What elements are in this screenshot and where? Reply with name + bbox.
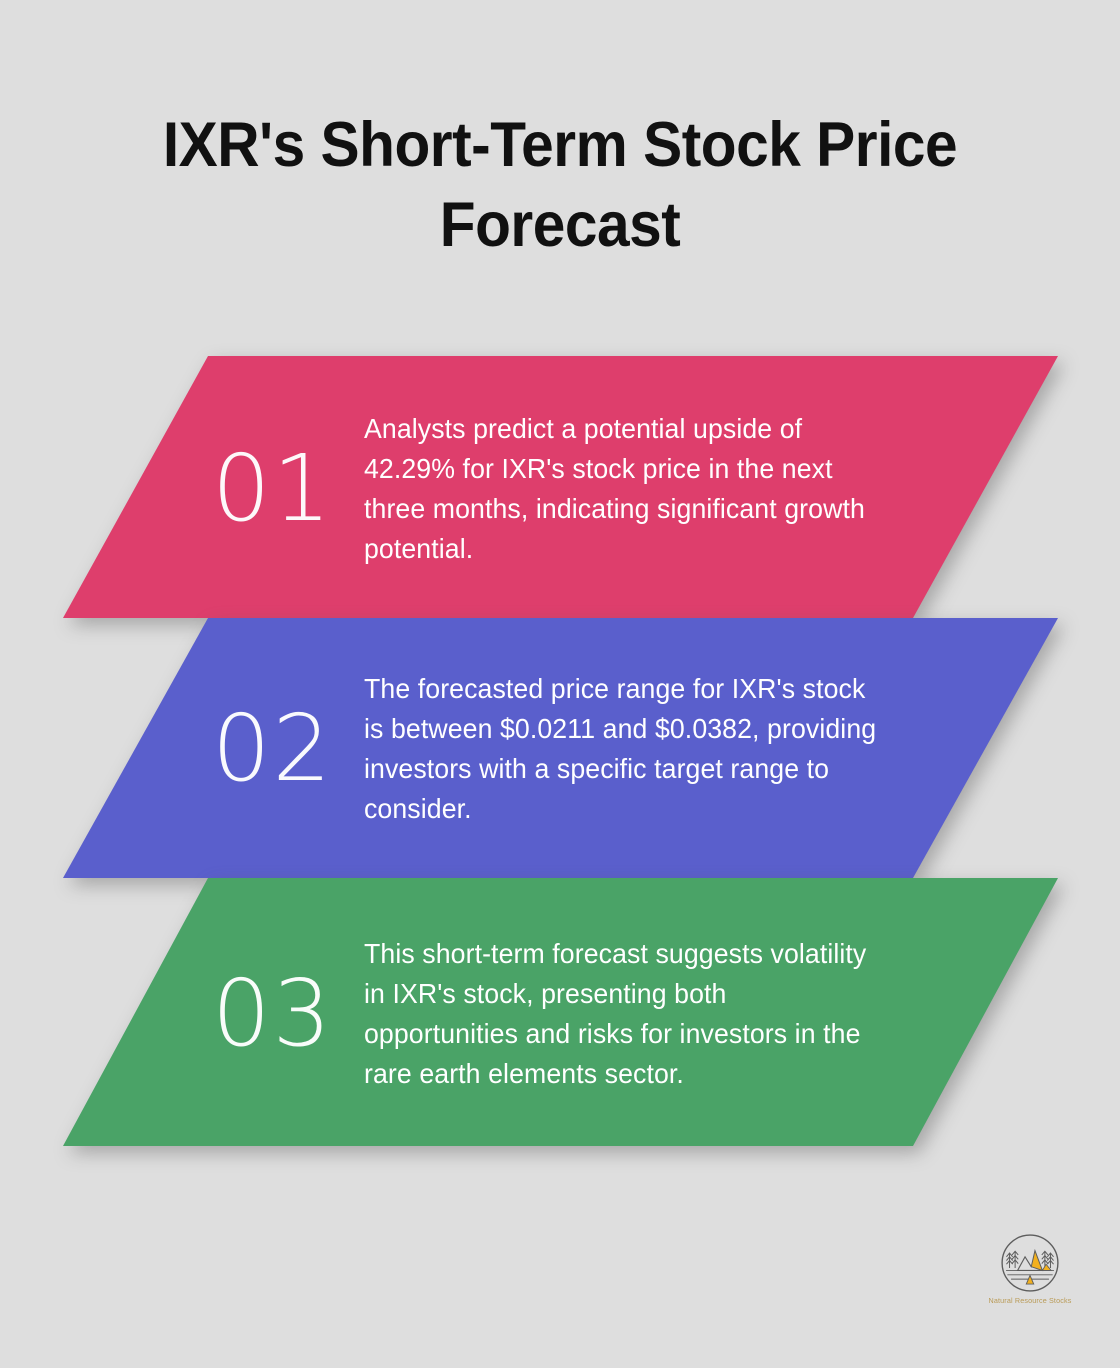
mountain-forest-badge-icon	[999, 1232, 1061, 1294]
band-text-01: Analysts predict a potential upside of 4…	[364, 409, 878, 569]
band-content-03: 03 This short-term forecast suggests vol…	[0, 878, 1120, 1146]
forecast-band-01: 01 Analysts predict a potential upside o…	[0, 356, 1120, 618]
page-title-container: IXR's Short-Term Stock Price Forecast	[0, 105, 1120, 265]
band-number-03: 03	[212, 968, 364, 1060]
band-number-02: 02	[212, 703, 364, 795]
band-text-03: This short-term forecast suggests volati…	[364, 934, 878, 1094]
brand-logo-caption: Natural Resource Stocks	[977, 1296, 1083, 1305]
brand-logo: Natural Resource Stocks	[977, 1232, 1083, 1318]
band-number-01: 01	[212, 443, 364, 535]
forecast-band-02: 02 The forecasted price range for IXR's …	[0, 618, 1120, 878]
band-content-01: 01 Analysts predict a potential upside o…	[0, 356, 1120, 618]
forecast-band-03: 03 This short-term forecast suggests vol…	[0, 878, 1120, 1146]
forecast-band-list: 01 Analysts predict a potential upside o…	[0, 356, 1120, 1146]
page-title: IXR's Short-Term Stock Price Forecast	[95, 105, 1025, 265]
band-text-02: The forecasted price range for IXR's sto…	[364, 669, 878, 829]
infographic-poster: IXR's Short-Term Stock Price Forecast 01…	[0, 0, 1120, 1368]
band-content-02: 02 The forecasted price range for IXR's …	[0, 618, 1120, 878]
